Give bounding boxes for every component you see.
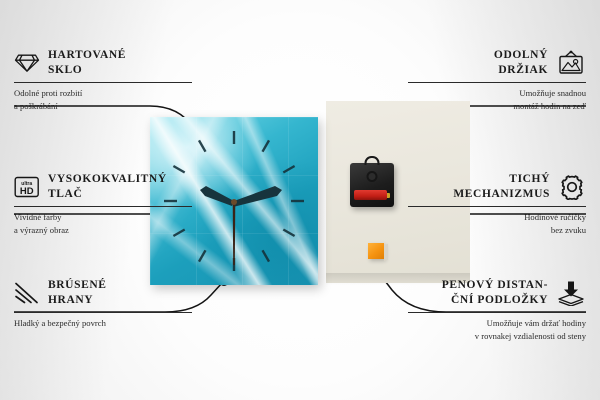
ultra-hd-icon: ultra HD xyxy=(14,175,40,199)
feature-title: TICHÝ MECHANIZMUS xyxy=(453,172,550,201)
feature-head: TICHÝ MECHANIZMUS xyxy=(408,172,586,201)
feature-description: Hodinové ručičky bez zvuku xyxy=(408,211,586,235)
feature-head: ODOLNÝ DRŽIAK xyxy=(408,48,586,77)
feature-title: PENOVÝ DISTAN- ČNÍ PODLOŽKY xyxy=(442,278,548,307)
gear-icon xyxy=(558,174,586,200)
feature-title: HARTOVANÉ SKLO xyxy=(48,48,126,77)
battery xyxy=(354,190,387,200)
feature-description: Vividné farby a výrazný obraz xyxy=(14,211,192,235)
feature-description: Umožňuje vám držať hodiny v rovnakej vzd… xyxy=(408,317,586,341)
feature-title: BRÚSENÉ HRANY xyxy=(48,278,107,307)
feature-divider xyxy=(408,312,586,313)
clock-hour-hand xyxy=(200,186,234,206)
diamond-icon xyxy=(14,52,40,74)
feature-head: BRÚSENÉ HRANY xyxy=(14,278,192,307)
feature-divider xyxy=(14,312,192,313)
clock-mechanism-back xyxy=(350,163,394,207)
feature-tempered-glass: HARTOVANÉ SKLO Odolné proti rozbití a po… xyxy=(14,48,192,112)
feature-polished-edges: BRÚSENÉ HRANY Hladký a bezpečný povrch xyxy=(14,278,192,330)
feature-divider xyxy=(14,206,192,207)
feature-title: ODOLNÝ DRŽIAK xyxy=(494,48,548,77)
feature-divider xyxy=(408,206,586,207)
feature-description: Hladký a bezpečný povrch xyxy=(14,317,192,329)
feature-head: ultra HD VYSOKOKVALITNÝ TLAČ xyxy=(14,172,192,201)
mechanism-hanger xyxy=(365,156,380,165)
down-arrow-stack-icon xyxy=(556,280,586,306)
feature-silent-mechanism: TICHÝ MECHANIZMUS Hodinové ručičky bez z… xyxy=(408,172,586,236)
feature-divider xyxy=(14,82,192,83)
feature-description: Umožňuje snadnou montáž hodin na zeď xyxy=(408,87,586,111)
feature-divider xyxy=(408,82,586,83)
feature-title: VYSOKOKVALITNÝ TLAČ xyxy=(48,172,167,201)
feature-head: HARTOVANÉ SKLO xyxy=(14,48,192,77)
clock-second-hand xyxy=(233,201,236,265)
hanging-frame-icon xyxy=(556,50,586,76)
feature-head: PENOVÝ DISTAN- ČNÍ PODLOŽKY xyxy=(408,278,586,307)
feature-description: Odolné proti rozbití a poškrábání xyxy=(14,87,192,111)
clock-center-pin xyxy=(231,199,237,205)
infographic-canvas: HARTOVANÉ SKLO Odolné proti rozbití a po… xyxy=(0,0,600,400)
diagonal-stripes-icon xyxy=(14,281,40,305)
clock-minute-hand xyxy=(233,186,282,207)
feature-durable-holder: ODOLNÝ DRŽIAK Umožňuje snadnou montáž ho… xyxy=(408,48,586,112)
svg-text:HD: HD xyxy=(20,186,34,197)
feature-foam-spacers: PENOVÝ DISTAN- ČNÍ PODLOŽKY Umožňuje vám… xyxy=(408,278,586,342)
mechanism-shaft xyxy=(369,173,376,180)
feature-high-quality-print: ultra HD VYSOKOKVALITNÝ TLAČ Vividné far… xyxy=(14,172,192,236)
foam-spacer-pad xyxy=(368,243,384,259)
